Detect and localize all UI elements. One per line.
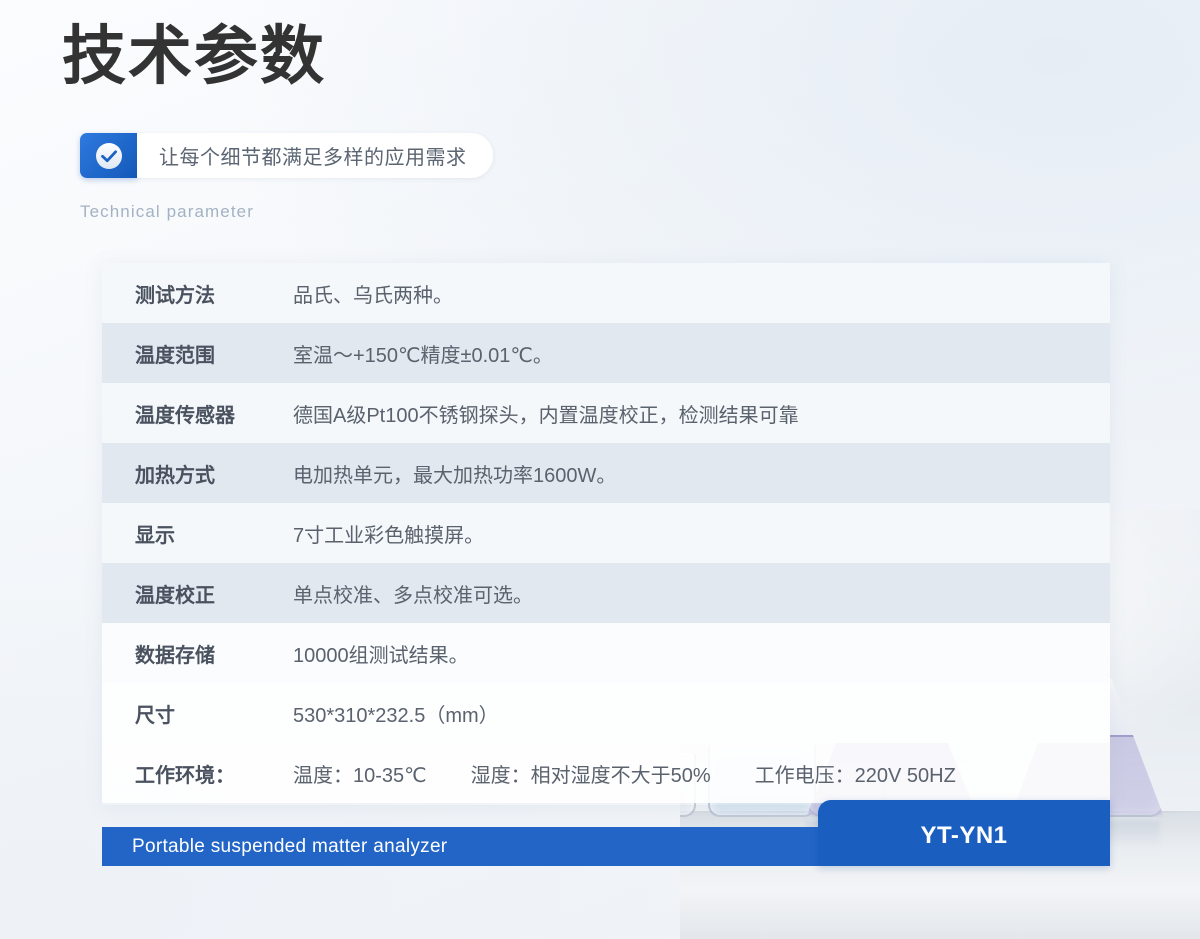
table-row: 显示 7寸工业彩色触摸屏。 <box>102 503 1110 563</box>
env-voltage: 工作电压：220V 50HZ <box>755 759 956 788</box>
spec-value: 530*310*232.5（mm） <box>293 699 499 728</box>
table-row: 温度范围 室温～+150℃精度±0.01℃。 <box>102 323 1110 383</box>
spec-value: 7寸工业彩色触摸屏。 <box>293 519 484 548</box>
spec-label: 温度范围 <box>135 339 293 368</box>
spec-label: 数据存储 <box>135 639 293 668</box>
model-badge: YT-YN1 <box>818 800 1110 866</box>
env-humidity: 湿度：相对湿度不大于50% <box>471 759 711 788</box>
env-temperature: 温度：10-35℃ <box>293 759 427 788</box>
spec-label: 显示 <box>135 519 293 548</box>
table-row-environment: 工作环境： 温度：10-35℃ 湿度：相对湿度不大于50% 工作电压：220V … <box>102 743 1110 803</box>
spec-label: 测试方法 <box>135 279 293 308</box>
spec-label: 温度校正 <box>135 579 293 608</box>
check-circle-icon <box>80 133 137 178</box>
tagline-text: 让每个细节都满足多样的应用需求 <box>159 141 467 170</box>
spec-value: 品氏、乌氏两种。 <box>293 279 453 308</box>
spec-label: 尺寸 <box>135 699 293 728</box>
page-title: 技术参数 <box>62 24 326 88</box>
table-row: 加热方式 电加热单元，最大加热功率1600W。 <box>102 443 1110 503</box>
table-row: 测试方法 品氏、乌氏两种。 <box>102 263 1110 323</box>
product-name-english: Portable suspended matter analyzer <box>132 836 447 858</box>
page-root: 技术参数 让每个细节都满足多样的应用需求 Technical parameter… <box>0 0 1200 939</box>
spec-label: 加热方式 <box>135 459 293 488</box>
spec-value: 单点校准、多点校准可选。 <box>293 579 533 608</box>
table-row: 温度校正 单点校准、多点校准可选。 <box>102 563 1110 623</box>
subtitle-english: Technical parameter <box>80 202 254 222</box>
spec-label: 工作环境： <box>135 759 293 788</box>
spec-value: 室温～+150℃精度±0.01℃。 <box>293 339 553 368</box>
spec-table: 测试方法 品氏、乌氏两种。 温度范围 室温～+150℃精度±0.01℃。 温度传… <box>102 263 1110 805</box>
model-number: YT-YN1 <box>920 822 1007 850</box>
spec-label: 温度传感器 <box>135 399 293 428</box>
table-row: 尺寸 530*310*232.5（mm） <box>102 683 1110 743</box>
tagline-banner: 让每个细节都满足多样的应用需求 <box>80 133 493 178</box>
spec-value: 温度：10-35℃ 湿度：相对湿度不大于50% 工作电压：220V 50HZ <box>293 759 956 788</box>
table-row: 温度传感器 德国A级Pt100不锈钢探头，内置温度校正，检测结果可靠 <box>102 383 1110 443</box>
table-row: 数据存储 10000组测试结果。 <box>102 623 1110 683</box>
spec-value: 电加热单元，最大加热功率1600W。 <box>293 459 616 488</box>
tagline-pill: 让每个细节都满足多样的应用需求 <box>137 133 493 178</box>
spec-value: 德国A级Pt100不锈钢探头，内置温度校正，检测结果可靠 <box>293 399 799 428</box>
spec-value: 10000组测试结果。 <box>293 639 469 668</box>
